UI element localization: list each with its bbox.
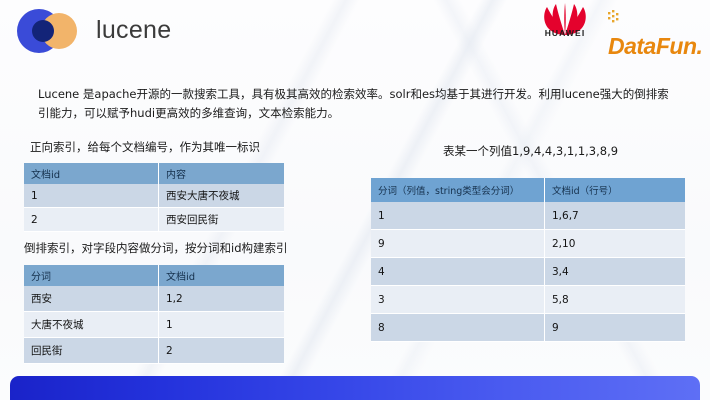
table-row: 8 9 [371, 314, 685, 342]
page-title: lucene [96, 18, 171, 43]
table-header-row: 文档id 内容 [24, 163, 284, 184]
table-row: 4 3,4 [371, 258, 685, 286]
huawei-wordmark: HUAWEI [545, 28, 586, 37]
table-cell: 9 [371, 230, 545, 258]
table-cell: 2 [159, 338, 285, 364]
column-header: 分词（列值，string类型会分词） [371, 178, 545, 202]
table-cell: 2,10 [545, 230, 686, 258]
table-row: 西安 1,2 [24, 286, 284, 312]
table-cell: 西安 [24, 286, 159, 312]
table-column-index: 分词（列值，string类型会分词） 文档id（行号） 1 1,6,7 9 2,… [371, 178, 685, 342]
table-cell: 1 [159, 312, 285, 338]
lucene-venn-logo-icon [13, 8, 85, 54]
table-cell: 3,4 [545, 258, 686, 286]
datafun-dots-icon [608, 10, 622, 29]
table-cell: 回民街 [24, 338, 159, 364]
table-cell: 西安大唐不夜城 [159, 184, 285, 208]
table-row: 回民街 2 [24, 338, 284, 364]
table-cell: 1,2 [159, 286, 285, 312]
table-row: 9 2,10 [371, 230, 685, 258]
column-header: 分词 [24, 265, 159, 286]
datafun-wordmark: DataFun. [608, 33, 702, 59]
table-header-row: 分词（列值，string类型会分词） 文档id（行号） [371, 178, 685, 202]
caption-inverted-index: 倒排索引，对字段内容做分词，按分词和id构建索引 [24, 240, 288, 256]
table-cell: 1 [371, 202, 545, 230]
table-row: 2 西安回民街 [24, 208, 284, 232]
table-cell: 西安回民街 [159, 208, 285, 232]
column-header: 文档id [24, 163, 159, 184]
table-row: 3 5,8 [371, 286, 685, 314]
column-header: 内容 [159, 163, 285, 184]
table-cell: 大唐不夜城 [24, 312, 159, 338]
table-header-row: 分词 文档id [24, 265, 284, 286]
table-cell: 4 [371, 258, 545, 286]
table-row: 1 西安大唐不夜城 [24, 184, 284, 208]
table-cell: 1,6,7 [545, 202, 686, 230]
huawei-logo-icon: HUAWEI [529, 3, 601, 49]
column-header: 文档id [159, 265, 285, 286]
table-cell: 5,8 [545, 286, 686, 314]
footer-accent-bar [10, 376, 700, 400]
datafun-logo-icon: DataFun. [608, 10, 710, 38]
table-cell: 8 [371, 314, 545, 342]
table-row: 大唐不夜城 1 [24, 312, 284, 338]
table-inverted-index: 分词 文档id 西安 1,2 大唐不夜城 1 回民街 2 [24, 265, 284, 364]
caption-forward-index: 正向索引，给每个文档编号，作为其唯一标识 [30, 139, 260, 155]
column-header: 文档id（行号） [545, 178, 686, 202]
table-row: 1 1,6,7 [371, 202, 685, 230]
intro-paragraph: Lucene 是apache开源的一款搜索工具，具有极其高效的检索效率。solr… [38, 85, 678, 123]
caption-column-values: 表某一个列值1,9,4,4,3,1,1,3,8,9 [443, 143, 618, 159]
table-cell: 1 [24, 184, 159, 208]
table-forward-index: 文档id 内容 1 西安大唐不夜城 2 西安回民街 [24, 163, 284, 232]
table-cell: 3 [371, 286, 545, 314]
table-cell: 9 [545, 314, 686, 342]
table-cell: 2 [24, 208, 159, 232]
slide-canvas: lucene HUAWEI DataFun. [0, 0, 710, 400]
